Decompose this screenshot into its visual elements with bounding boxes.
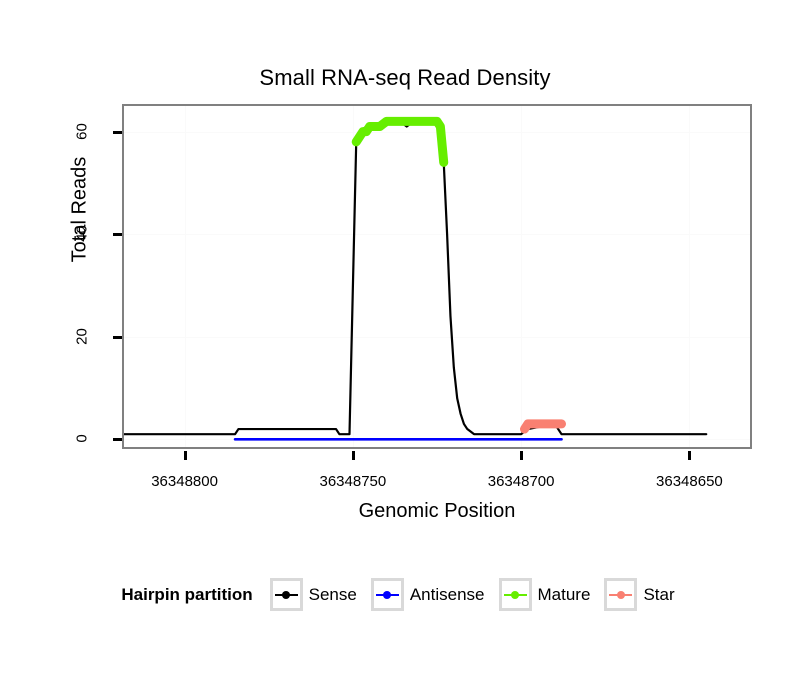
- legend-item-sense[interactable]: Sense: [270, 578, 365, 611]
- series-layer: [124, 106, 750, 447]
- x-tick-mark-36348800: [184, 451, 187, 460]
- legend-label-mature: Mature: [538, 585, 591, 605]
- chart-root: Small RNA-seq Read Density Total Reads G…: [0, 0, 810, 690]
- legend-title: Hairpin partition: [121, 585, 252, 605]
- legend-key-star-icon: [604, 578, 637, 611]
- legend-key-dot: [282, 591, 290, 599]
- y-tick-mark-60: [113, 131, 122, 134]
- legend-item-star[interactable]: Star: [604, 578, 682, 611]
- x-tick-mark-36348650: [688, 451, 691, 460]
- legend-item-antisense[interactable]: Antisense: [371, 578, 493, 611]
- x-tick-label-36348800: 36348800: [115, 473, 255, 490]
- legend-item-mature[interactable]: Mature: [499, 578, 599, 611]
- y-tick-label-20: 20: [74, 316, 91, 356]
- x-tick-label-36348700: 36348700: [451, 473, 591, 490]
- series-line-star: [525, 424, 562, 429]
- y-tick-mark-0: [113, 438, 122, 441]
- legend-key-dot: [383, 591, 391, 599]
- plot-panel: [122, 104, 752, 449]
- x-tick-mark-36348750: [352, 451, 355, 460]
- y-tick-label-60: 60: [74, 111, 91, 151]
- legend-key-dot: [617, 591, 625, 599]
- legend-key-mature-icon: [499, 578, 532, 611]
- x-tick-label-36348750: 36348750: [283, 473, 423, 490]
- legend-key-antisense-icon: [371, 578, 404, 611]
- x-tick-label-36348650: 36348650: [619, 473, 759, 490]
- legend-label-star: Star: [643, 585, 674, 605]
- chart-legend: Hairpin partition SenseAntisenseMatureSt…: [0, 578, 810, 611]
- legend-key-dot: [511, 591, 519, 599]
- series-line-sense: [124, 121, 706, 434]
- y-tick-label-0: 0: [74, 419, 91, 459]
- series-line-mature: [356, 121, 444, 162]
- x-tick-mark-36348700: [520, 451, 523, 460]
- legend-label-sense: Sense: [309, 585, 357, 605]
- y-tick-mark-40: [113, 233, 122, 236]
- plot-area: [124, 106, 750, 447]
- legend-label-antisense: Antisense: [410, 585, 485, 605]
- y-tick-mark-20: [113, 336, 122, 339]
- y-tick-label-40: 40: [74, 214, 91, 254]
- chart-title: Small RNA-seq Read Density: [0, 65, 810, 91]
- x-axis-title: Genomic Position: [122, 500, 752, 523]
- legend-key-sense-icon: [270, 578, 303, 611]
